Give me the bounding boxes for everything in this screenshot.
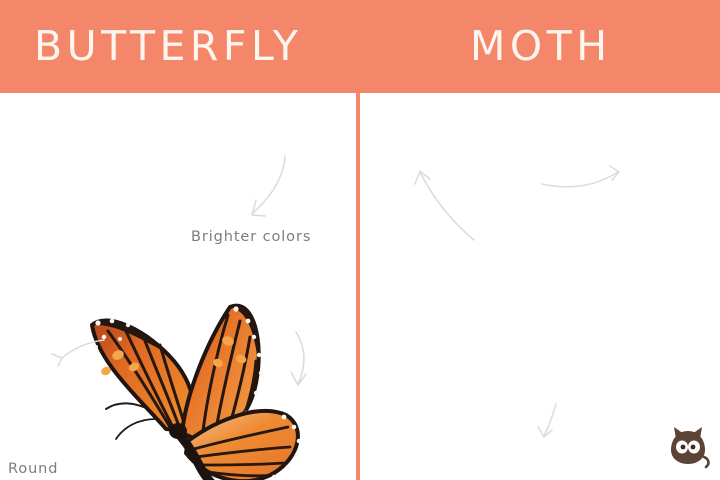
monarch-butterfly-image [78,251,328,480]
panel-butterfly: Brighter colors Round antennae Wings up … [0,93,356,480]
annotation-brighter-colors: Brighter colors [191,227,311,248]
page-title-butterfly: BUTTERFLY [34,22,302,70]
panel-divider [356,93,360,480]
panel-moth: Monochromatic colors Straight antennae W… [360,93,720,480]
butterfly-vs-moth-infographic: BUTTERFLY MOTH [0,0,720,480]
page-title-moth: MOTH [470,22,612,70]
annotation-round-antennae: Round antennae [8,459,84,480]
header-bar: BUTTERFLY MOTH [0,0,720,93]
cat-logo-icon [668,423,712,469]
